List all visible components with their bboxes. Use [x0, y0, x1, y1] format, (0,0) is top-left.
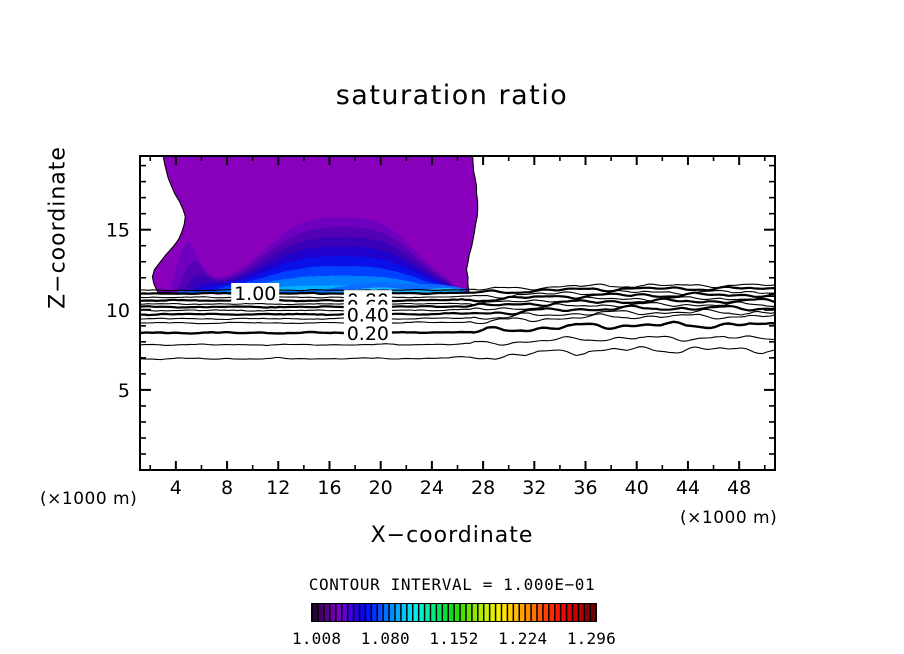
colorbar-swatch — [402, 604, 406, 621]
colorbar-swatch — [360, 604, 364, 621]
colorbar-swatch — [544, 604, 548, 621]
colorbar-tick-label: 1.008 — [292, 629, 341, 648]
colorbar-swatch — [490, 604, 494, 621]
colorbar-swatch — [342, 604, 346, 621]
colorbar-tick-label: 1.224 — [498, 629, 547, 648]
colorbar-swatch — [484, 604, 488, 621]
figure-canvas: saturation ratio Z−coordinate X−coordina… — [0, 0, 904, 654]
colorbar-swatch — [467, 604, 471, 621]
colorbar-swatch — [567, 604, 571, 621]
colorbar-tick-labels: 1.008 1.080 1.152 1.224 1.296 — [292, 629, 616, 648]
colorbar-swatch — [550, 604, 554, 621]
colorbar-swatch — [514, 604, 518, 621]
colorbar-swatch — [585, 604, 589, 621]
colorbar-swatch — [408, 604, 412, 621]
colorbar-swatch — [496, 604, 500, 621]
colorbar-swatches — [311, 603, 597, 622]
colorbar-swatch — [520, 604, 524, 621]
colorbar-swatch — [431, 604, 435, 621]
colorbar-swatch — [591, 604, 595, 621]
colorbar-swatch — [461, 604, 465, 621]
colorbar-swatch — [437, 604, 441, 621]
colorbar-tick-label: 1.152 — [429, 629, 478, 648]
colorbar-swatch — [325, 604, 329, 621]
colorbar-swatch — [390, 604, 394, 621]
colorbar-swatch — [396, 604, 400, 621]
colorbar-swatch — [502, 604, 506, 621]
colorbar-swatch — [573, 604, 577, 621]
colorbar-swatch — [384, 604, 388, 621]
colorbar-swatch — [372, 604, 376, 621]
colorbar-swatch — [479, 604, 483, 621]
colorbar-swatch — [313, 604, 317, 621]
colorbar-swatch — [561, 604, 565, 621]
colorbar — [0, 0, 904, 654]
colorbar-swatch — [449, 604, 453, 621]
colorbar-swatch — [538, 604, 542, 621]
colorbar-swatch — [473, 604, 477, 621]
colorbar-swatch — [348, 604, 352, 621]
colorbar-swatch — [413, 604, 417, 621]
colorbar-swatch — [555, 604, 559, 621]
colorbar-swatch — [354, 604, 358, 621]
colorbar-border — [311, 603, 597, 622]
colorbar-swatch — [331, 604, 335, 621]
colorbar-swatch — [337, 604, 341, 621]
colorbar-swatch — [532, 604, 536, 621]
colorbar-swatch — [526, 604, 530, 621]
colorbar-swatch — [425, 604, 429, 621]
colorbar-swatch — [579, 604, 583, 621]
colorbar-tick-label: 1.296 — [567, 629, 616, 648]
colorbar-swatch — [378, 604, 382, 621]
colorbar-swatch — [508, 604, 512, 621]
colorbar-swatch — [443, 604, 447, 621]
colorbar-swatch — [366, 604, 370, 621]
colorbar-swatch — [419, 604, 423, 621]
colorbar-tick-label: 1.080 — [361, 629, 410, 648]
colorbar-swatch — [319, 604, 323, 621]
colorbar-swatch — [455, 604, 459, 621]
